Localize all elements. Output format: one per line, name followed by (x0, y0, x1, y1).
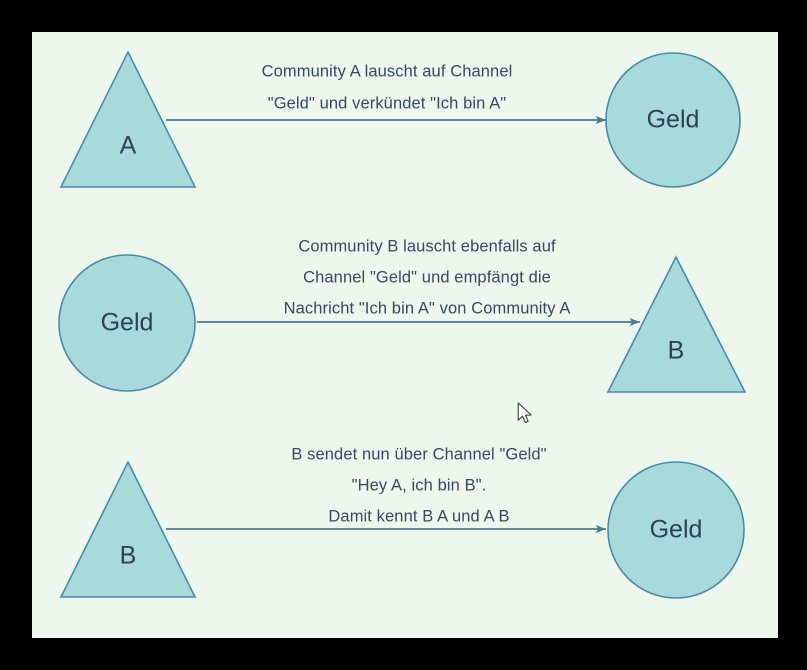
node-circle-geld-3-label: Geld (650, 516, 703, 544)
node-triangle-a-label: A (120, 132, 137, 160)
edge-label-row-1-line-1: Community A lauscht auf Channel (262, 62, 513, 80)
edge-label-row-2-line-3: Nachricht "Ich bin A" von Community A (284, 299, 571, 317)
edge-label-row-3-line-3: Damit kennt B A und A B (328, 507, 509, 525)
edge-label-row-3-line-1: B sendet nun über Channel "Geld" (291, 445, 546, 463)
diagram-row-1[interactable]: A Geld Community A lauscht auf Channel "… (61, 52, 740, 187)
node-triangle-b-row-3-label: B (120, 542, 137, 570)
node-triangle-b-row-2-label: B (668, 337, 685, 365)
diagram-row-2[interactable]: Geld B Community B lauscht ebenfalls auf… (59, 237, 745, 392)
edge-label-row-1-line-2: "Geld" und verkündet "Ich bin A" (268, 94, 507, 112)
node-circle-geld-1-label: Geld (647, 106, 700, 134)
node-triangle-b-row-2[interactable] (608, 257, 745, 392)
node-circle-geld-2-label: Geld (101, 309, 154, 337)
edge-label-row-2-line-1: Community B lauscht ebenfalls auf (298, 237, 556, 255)
edge-label-row-2-line-2: Channel "Geld" und empfängt die (303, 268, 551, 286)
diagram-svg: A Geld Community A lauscht auf Channel "… (32, 32, 778, 638)
diagram-row-3[interactable]: B Geld B sendet nun über Channel "Geld" … (61, 445, 744, 598)
diagram-canvas[interactable]: A Geld Community A lauscht auf Channel "… (32, 32, 778, 638)
edge-label-row-3-line-2: "Hey A, ich bin B". (352, 476, 487, 494)
app-frame: A Geld Community A lauscht auf Channel "… (0, 0, 807, 670)
